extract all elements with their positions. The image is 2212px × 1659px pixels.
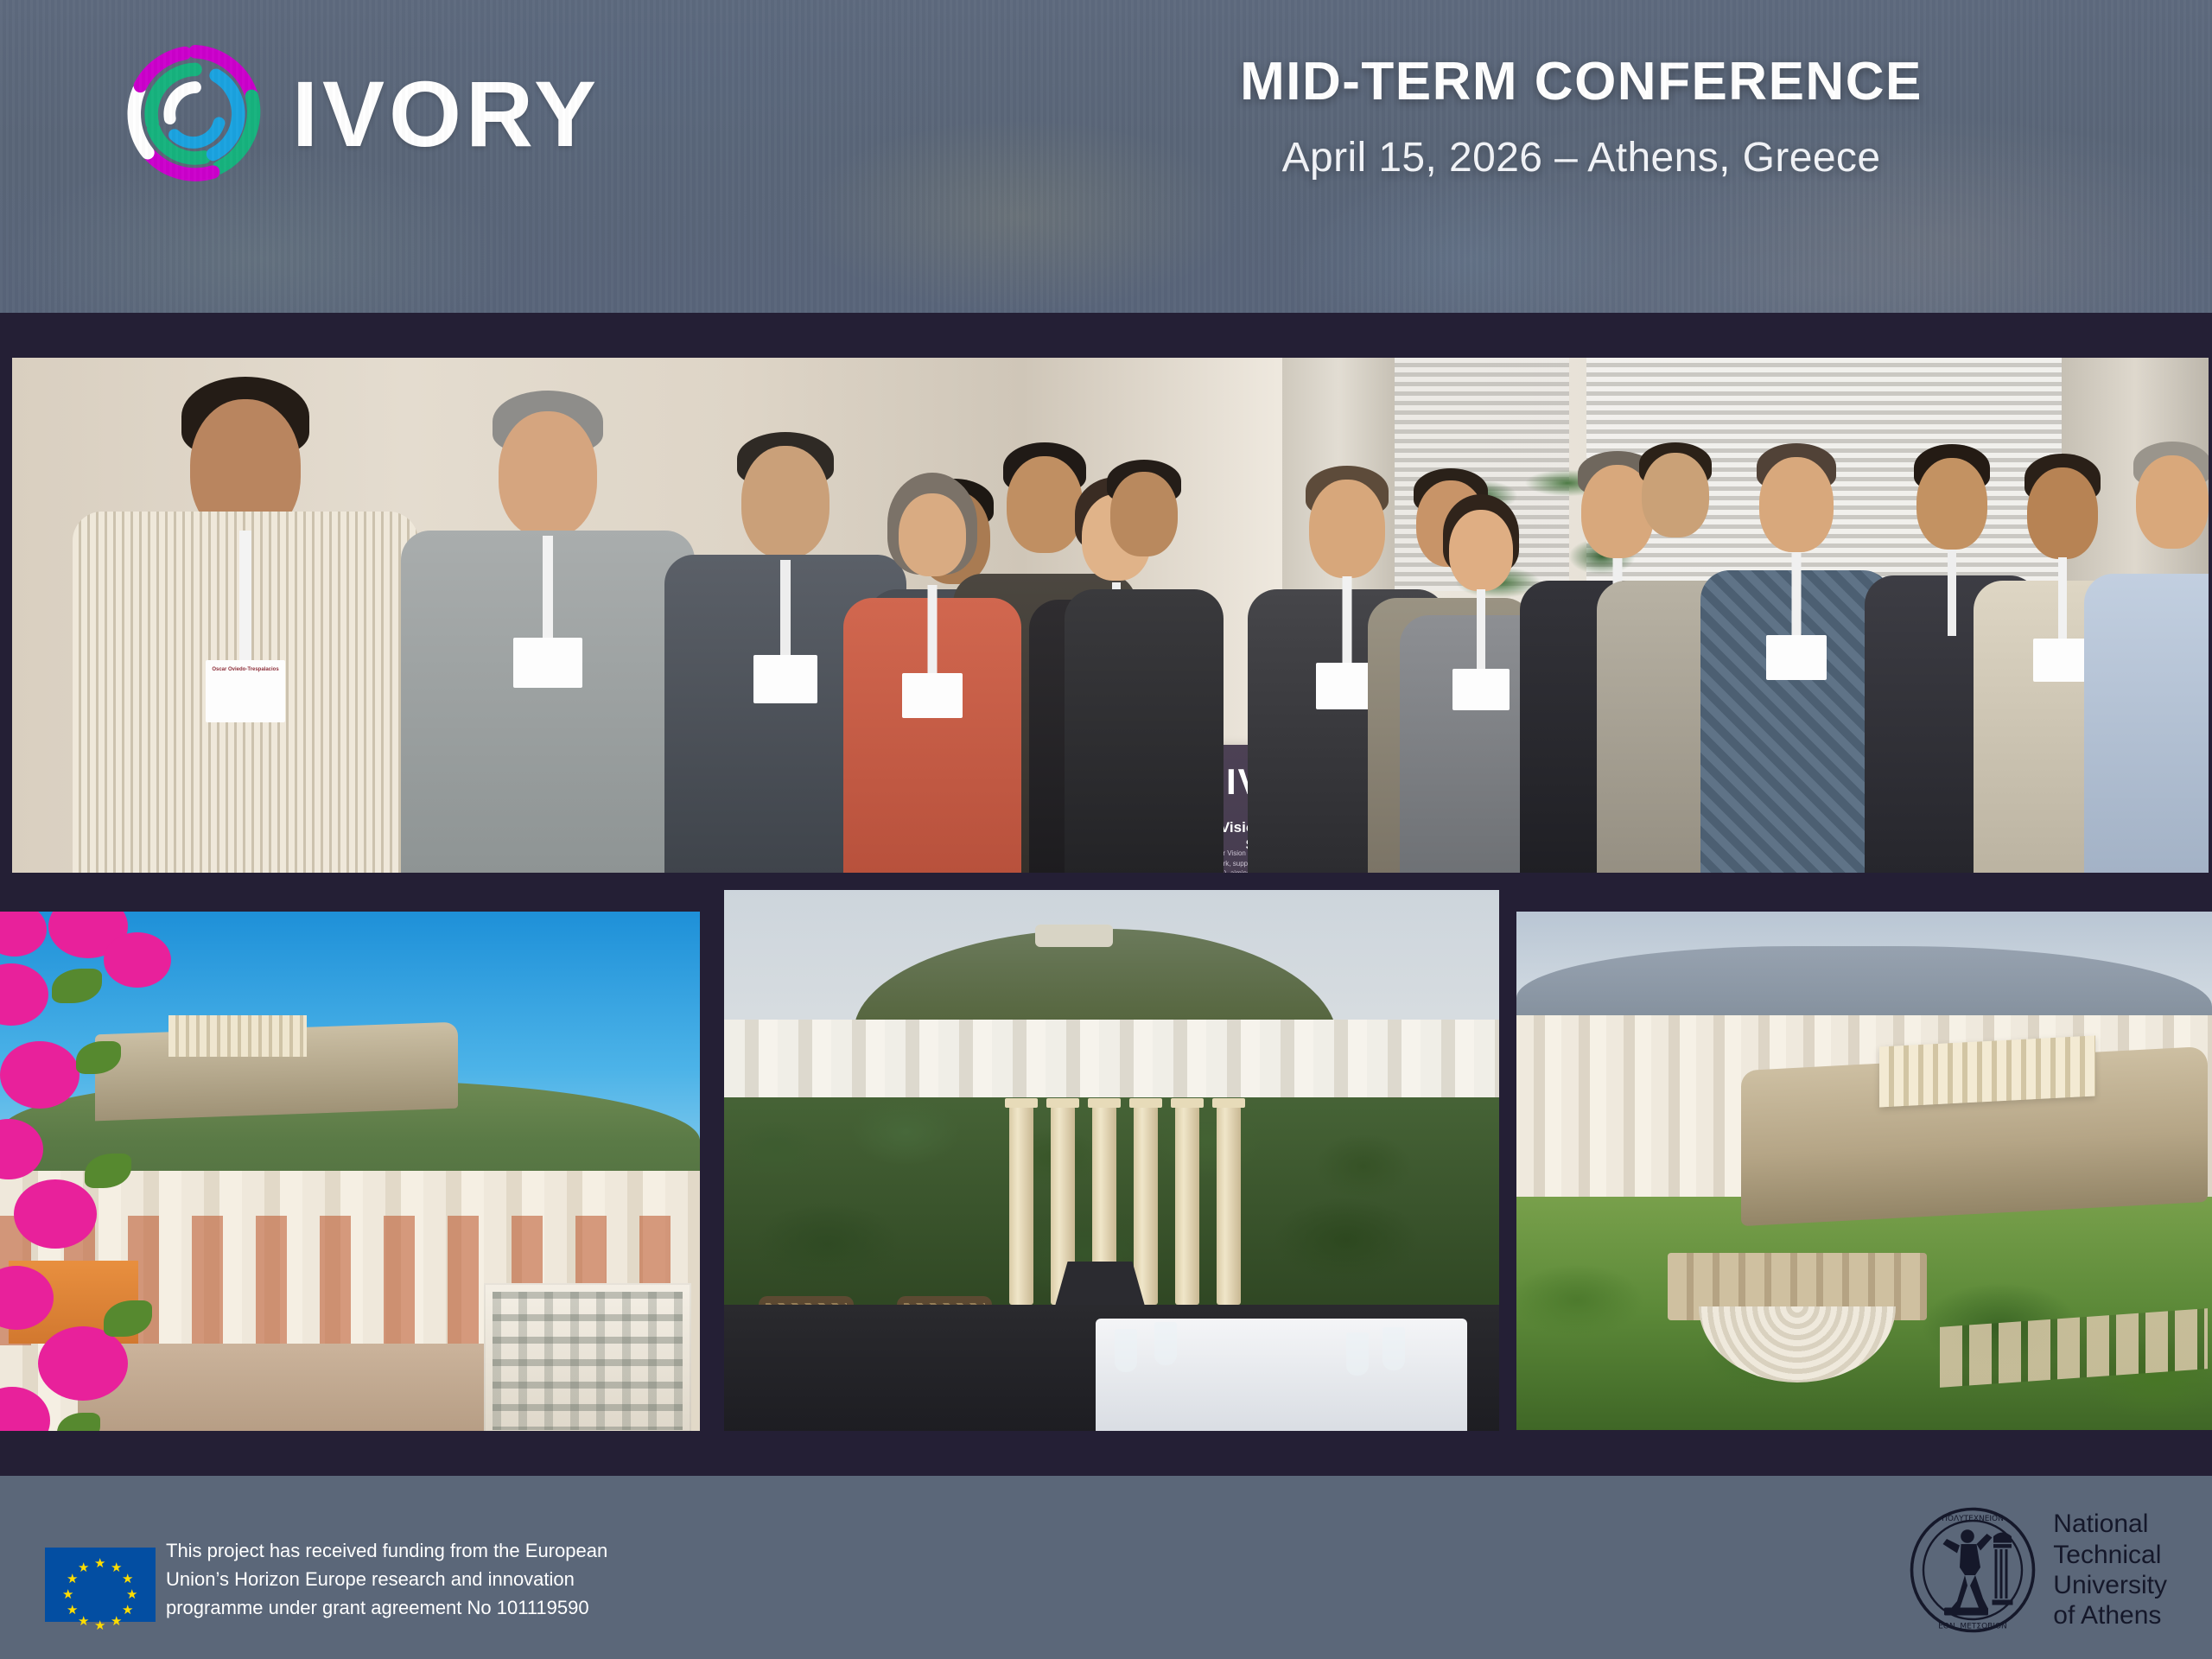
person-name-badge <box>513 638 582 688</box>
hilltop-chapel <box>1035 925 1113 947</box>
person-name-badge <box>902 673 963 718</box>
wine-glass <box>1115 1329 1137 1372</box>
ntua-seal-icon: ΠΟΛΥΤΕΧΝΕΙΟΝ ΕΘΝ. ΜΕΤΣΟΒΙΟΝ <box>1908 1505 2037 1635</box>
person-name-badge <box>753 655 817 703</box>
bougainvillea-branch <box>0 912 259 1437</box>
arcade-building <box>484 1283 691 1437</box>
divider-band-bottom <box>0 1431 2212 1476</box>
person-name-badge <box>1766 635 1827 680</box>
person-lanyard <box>503 536 593 648</box>
ntua-logo-lockup: ΠΟΛΥΤΕΧΝΕΙΟΝ ΕΘΝ. ΜΕΤΣΟΒΙΟΝ National Tec… <box>1908 1505 2167 1635</box>
ntua-name-line-3: University <box>2053 1570 2167 1600</box>
wine-glass <box>1382 1327 1405 1370</box>
person <box>2082 438 2209 874</box>
photo-temple-olympian-zeus <box>724 890 1499 1433</box>
person <box>837 473 1027 874</box>
ntua-name-line-2: Technical <box>2053 1540 2167 1570</box>
eu-funding-statement: This project has received funding from t… <box>166 1536 615 1622</box>
person-lanyard <box>1758 552 1834 642</box>
brand-wordmark: IVORY <box>292 67 601 161</box>
parthenon <box>1879 1035 2095 1107</box>
white-tablecloth <box>1096 1319 1467 1433</box>
eu-funding-line-1: This project has received funding from t… <box>166 1536 615 1565</box>
ntua-name-line-4: of Athens <box>2053 1600 2167 1630</box>
person-head <box>2136 455 2209 549</box>
ntua-name: National Technical University of Athens <box>2053 1509 2167 1631</box>
svg-text:ΕΘΝ. ΜΕΤΣΟΒΙΟΝ: ΕΘΝ. ΜΕΤΣΟΒΙΟΝ <box>1939 1623 2008 1631</box>
eu-funding-line-2: Union’s Horizon Europe research and inno… <box>166 1565 615 1593</box>
person-lanyard <box>894 585 970 680</box>
person-head <box>899 493 966 576</box>
poster-header: IVORY MID-TERM CONFERENCE April 15, 2026… <box>0 0 2212 313</box>
conference-title: MID-TERM CONFERENCE <box>1020 54 2143 110</box>
person-lanyard <box>194 531 296 669</box>
wine-glass <box>1346 1332 1369 1376</box>
photo-acropolis-aerial <box>1516 912 2212 1430</box>
person-torso <box>1065 589 1224 874</box>
person-lanyard <box>1446 589 1516 676</box>
eu-flag-icon: ★ ★ ★ ★ ★ ★ ★ ★ ★ ★ ★ ★ <box>45 1548 156 1622</box>
eu-funding-line-3: programme under grant agreement No 10111… <box>166 1593 615 1622</box>
ivory-logo-icon <box>121 40 270 188</box>
conference-subtitle: April 15, 2026 – Athens, Greece <box>1020 134 2143 181</box>
person: Oscar Oviedo-Trespalacios <box>64 358 427 874</box>
person-name-badge <box>1452 669 1510 710</box>
person-torso <box>2084 574 2209 874</box>
person <box>1062 460 1226 874</box>
svg-text:ΠΟΛΥΤΕΧΝΕΙΟΝ: ΠΟΛΥΤΕΧΝΕΙΟΝ <box>1942 1515 2004 1523</box>
person-head <box>1110 472 1178 556</box>
brand-lockup: IVORY <box>121 40 601 188</box>
conference-poster: IVORY MID-TERM CONFERENCE April 15, 2026… <box>0 0 2212 1659</box>
wine-glass <box>1154 1322 1177 1365</box>
person-head <box>1449 510 1513 591</box>
group-photo: IVORY AI for Vision Zero in Road Safety … <box>12 358 2209 874</box>
person-name-badge: Oscar Oviedo-Trespalacios <box>206 660 285 722</box>
person-head <box>499 411 597 537</box>
person-lanyard <box>744 560 827 664</box>
person-head <box>741 446 829 558</box>
ntua-name-line-1: National <box>2053 1509 2167 1539</box>
badge-name: Oscar Oviedo-Trespalacios <box>206 667 285 672</box>
person <box>392 358 703 874</box>
odeon-of-herodes-atticus <box>1668 1253 1927 1382</box>
divider-band-top <box>0 313 2212 359</box>
header-titles: MID-TERM CONFERENCE April 15, 2026 – Ath… <box>1020 54 2143 181</box>
group-photo-people: Oscar Oviedo-Trespalacios <box>12 358 2209 874</box>
person-head <box>1759 457 1834 552</box>
photo-acropolis-monastiraki <box>0 912 700 1437</box>
